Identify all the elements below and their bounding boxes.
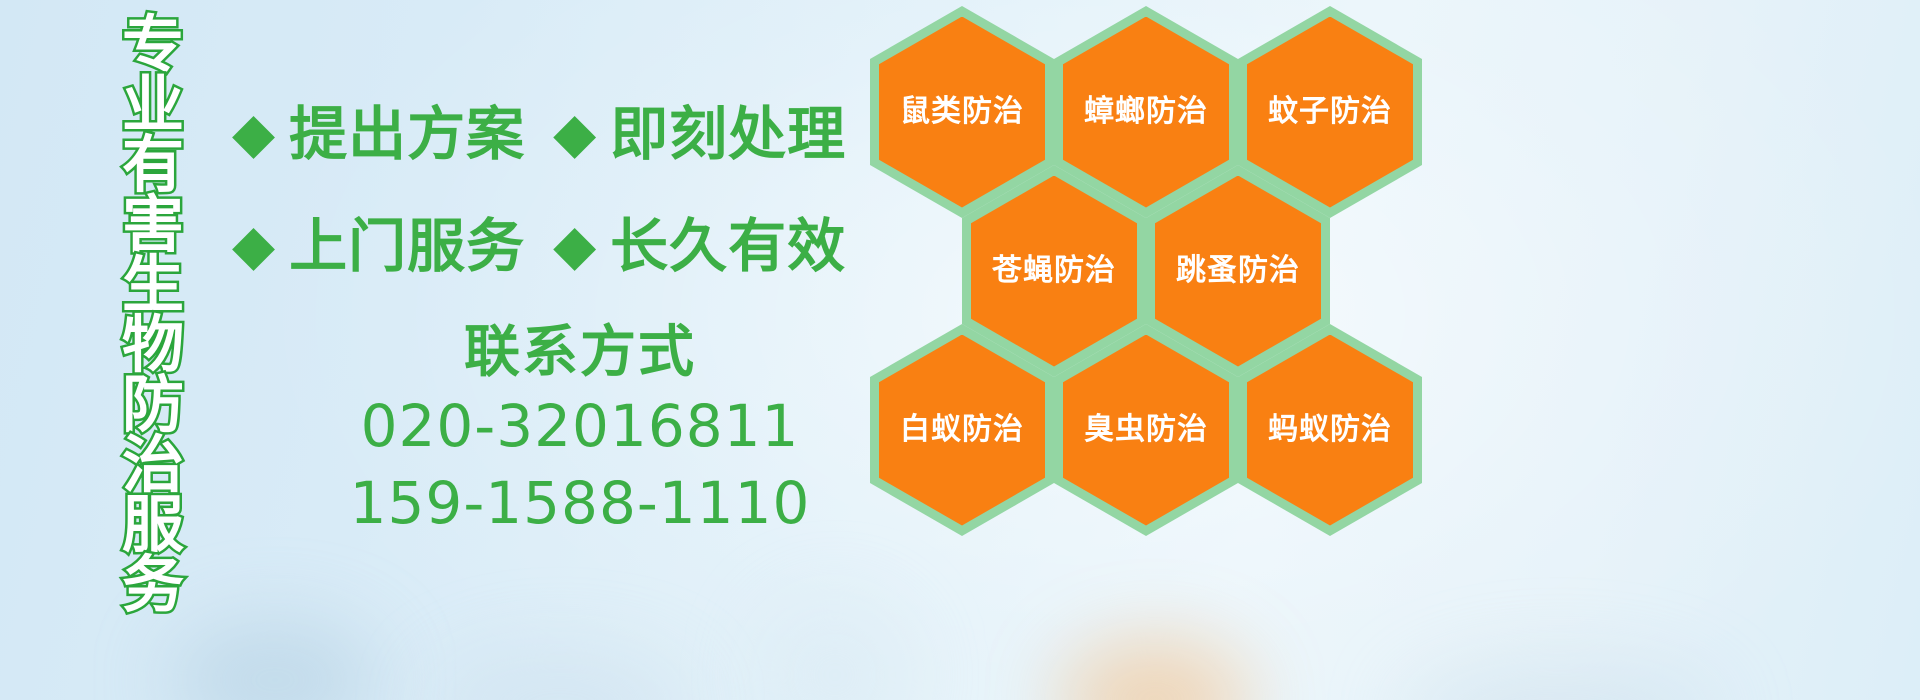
vertical-title-char: 治: [122, 434, 184, 496]
vertical-title-char: 物: [122, 314, 184, 376]
service-label: 蚂蚁防治: [1268, 415, 1392, 445]
service-label: 蟑螂防治: [1084, 97, 1208, 127]
feature-label: 提出方案: [289, 105, 525, 163]
diamond-bullet-icon: ◆: [553, 218, 596, 274]
vertical-title-char: 防: [122, 374, 184, 436]
diamond-bullet-icon: ◆: [232, 218, 275, 274]
feature-list: ◆ 提出方案 ◆ 即刻处理 ◆ 上门服务 ◆ 长久有效: [232, 78, 872, 302]
hex-inner: 蚊子防治: [1247, 17, 1413, 208]
vertical-title-char: 害: [122, 194, 184, 256]
feature-row: ◆ 上门服务 ◆ 长久有效: [232, 190, 872, 302]
pest-control-banner: 专 业 有 害 生 物 防 治 服 务 ◆ 提出方案 ◆ 即刻处理 ◆ 上门服务: [0, 0, 1920, 700]
service-label: 跳蚤防治: [1176, 256, 1300, 286]
hex-inner: 蚂蚁防治: [1247, 335, 1413, 526]
diamond-bullet-icon: ◆: [553, 106, 596, 162]
diamond-bullet-icon: ◆: [232, 106, 275, 162]
hex-inner: 臭虫防治: [1063, 335, 1229, 526]
contact-block: 联系方式 020-32016811 159-1588-1110: [300, 318, 860, 541]
vertical-title-char: 服: [122, 494, 184, 556]
feature-item: ◆ 即刻处理: [553, 105, 846, 163]
phone-number-mobile[interactable]: 159-1588-1110: [300, 465, 860, 542]
phone-number-landline[interactable]: 020-32016811: [300, 388, 860, 465]
hex-inner: 跳蚤防治: [1155, 176, 1321, 367]
service-label: 鼠类防治: [900, 97, 1024, 127]
vertical-title-char: 业: [122, 74, 184, 136]
feature-item: ◆ 提出方案: [232, 105, 525, 163]
contact-title: 联系方式: [300, 318, 860, 388]
hex-inner: 蟑螂防治: [1063, 17, 1229, 208]
background-blur-blob: [170, 620, 380, 700]
background-blur-blob: [760, 600, 910, 700]
feature-label: 即刻处理: [610, 105, 846, 163]
hex-inner: 白蚁防治: [879, 335, 1045, 526]
feature-item: ◆ 长久有效: [553, 217, 846, 275]
vertical-title-char: 专: [122, 14, 184, 76]
vertical-title-char: 生: [122, 254, 184, 316]
service-label: 苍蝇防治: [992, 256, 1116, 286]
feature-item: ◆ 上门服务: [232, 217, 525, 275]
background-blur-blob: [430, 650, 690, 700]
vertical-title: 专 业 有 害 生 物 防 治 服 务: [107, 14, 199, 614]
service-label: 臭虫防治: [1084, 415, 1208, 445]
background-blur-blob: [1400, 660, 1720, 700]
hex-inner: 鼠类防治: [879, 17, 1045, 208]
feature-row: ◆ 提出方案 ◆ 即刻处理: [232, 78, 872, 190]
hex-inner: 苍蝇防治: [971, 176, 1137, 367]
vertical-title-char: 务: [122, 554, 184, 616]
feature-label: 上门服务: [289, 217, 525, 275]
feature-label: 长久有效: [610, 217, 846, 275]
background-blur-blob: [1060, 640, 1250, 700]
service-honeycomb: 鼠类防治 蟑螂防治 蚊子防治 苍蝇防治 跳蚤防治 白蚁防治: [858, 0, 1458, 554]
service-label: 白蚁防治: [900, 415, 1024, 445]
vertical-title-char: 有: [122, 134, 184, 196]
service-label: 蚊子防治: [1268, 97, 1392, 127]
